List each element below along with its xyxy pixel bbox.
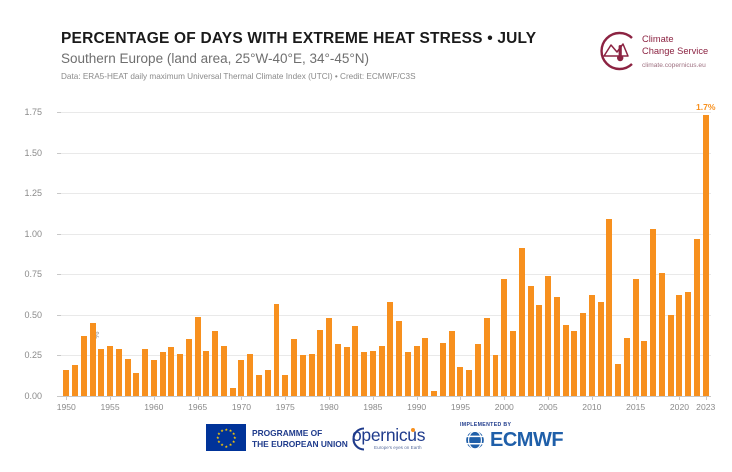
bar-1991 [422,338,428,396]
x-tick-mark [285,396,286,400]
bar-1973 [265,370,271,396]
eu-flag-star-icon: ★ [225,445,228,448]
bar-2004 [536,305,542,396]
bar-1978 [309,354,315,396]
climate-change-service-mark [592,30,638,72]
bar-2009 [580,313,586,396]
x-tick-label: 1960 [144,402,163,412]
bar-1965 [195,317,201,396]
y-tick-mark [57,355,61,356]
copernicus-tagline: Europe's eyes on Earth [374,445,422,450]
gridline [61,234,711,235]
ecmwf-wordmark: ECMWF [490,429,563,452]
bar-1968 [221,346,227,396]
gridline [61,315,711,316]
gridline [61,274,711,275]
logo-url: climate.copernicus.eu [642,62,708,69]
logo-line-1: Climate [642,34,708,46]
european-union-flag: ★★★★★★★★★★★★ [206,424,246,451]
x-tick-label: 1985 [363,402,382,412]
bar-2005 [545,276,551,396]
x-tick-mark [636,396,637,400]
y-tick-mark [57,153,61,154]
x-tick-mark [373,396,374,400]
y-tick-label: 1.75 [24,107,42,117]
x-tick-label: 2020 [670,402,689,412]
x-tick-label: 2010 [582,402,601,412]
x-tick-label: 1950 [57,402,76,412]
bar-1995 [457,367,463,396]
x-tick-mark [706,396,707,400]
bar-1998 [484,318,490,396]
data-source-note: Data: ERA5-HEAT daily maximum Universal … [61,72,416,81]
implemented-by-label: IMPLEMENTED BY [460,422,511,428]
ecmwf-globe-icon [460,430,490,452]
bar-1972 [256,375,262,396]
y-tick-label: 0.75 [24,269,42,279]
x-tick-label: 1990 [407,402,426,412]
eu-programme-text: PROGRAMME OF THE EUROPEAN UNION [252,428,348,449]
logo-text: Climate Change Service climate.copernicu… [642,34,708,69]
bar-1954 [98,349,104,396]
bar-1977 [300,355,306,396]
bar-chart-plot-area: 0.000.250.500.751.001.251.501.75 % 19501… [61,96,711,396]
bar-1986 [379,346,385,396]
bar-1969 [230,388,236,396]
bar-1980 [326,318,332,396]
footer-logos: ★★★★★★★★★★★★ PROGRAMME OF THE EUROPEAN U… [0,418,732,464]
y-tick-mark [57,274,61,275]
bar-1982 [344,347,350,396]
x-tick-label: 2005 [538,402,557,412]
x-tick-mark [460,396,461,400]
climate-chart-figure: PERCENTAGE OF DAYS WITH EXTREME HEAT STR… [0,0,732,472]
bar-1962 [168,347,174,396]
bar-2023 [703,115,709,396]
eu-flag-star-icon: ★ [225,428,228,431]
copernicus-climate-change-service-logo: Climate Change Service climate.copernicu… [592,28,722,76]
chart-subtitle: Southern Europe (land area, 25°W-40°E, 3… [61,51,369,66]
bar-2014 [624,338,630,396]
y-tick-label: 0.25 [24,350,42,360]
bar-1990 [414,346,420,396]
bar-1958 [133,373,139,396]
y-tick-label: 1.50 [24,148,42,158]
x-tick-mark [417,396,418,400]
bar-1964 [186,339,192,396]
bar-1970 [238,360,244,396]
bar-2015 [633,279,639,396]
bar-2002 [519,248,525,396]
bar-2006 [554,297,560,396]
x-tick-mark [548,396,549,400]
x-tick-mark [329,396,330,400]
bar-2012 [606,219,612,396]
bar-2001 [510,331,516,396]
bar-1985 [370,351,376,396]
page-title: PERCENTAGE OF DAYS WITH EXTREME HEAT STR… [61,30,536,48]
bar-1955 [107,346,113,396]
y-tick-label: 0.00 [24,391,42,401]
bar-1983 [352,326,358,396]
bar-1976 [291,339,297,396]
logo-line-2: Change Service [642,46,708,58]
eu-flag-star-icon: ★ [220,429,223,432]
x-tick-label: 1965 [188,402,207,412]
x-tick-mark [241,396,242,400]
bar-1957 [125,359,131,396]
bar-1975 [282,375,288,396]
bar-1996 [466,370,472,396]
bar-1993 [440,343,446,397]
eu-programme-line-1: PROGRAMME OF [252,428,348,439]
copernicus-orange-dot-icon [411,428,415,432]
bar-2003 [528,286,534,396]
gridline [61,153,711,154]
eu-flag-star-icon: ★ [232,440,235,443]
x-tick-label: 1970 [232,402,251,412]
bar-2018 [659,273,665,396]
x-tick-label: 1980 [319,402,338,412]
eu-flag-star-icon: ★ [229,443,232,446]
bar-1971 [247,354,253,396]
y-tick-mark [57,315,61,316]
x-tick-mark [592,396,593,400]
gridline [61,355,711,356]
x-tick-label: 1995 [451,402,470,412]
eu-programme-line-2: THE EUROPEAN UNION [252,439,348,450]
bar-1950 [63,370,69,396]
x-tick-mark [504,396,505,400]
bar-1951 [72,365,78,396]
y-tick-mark [57,234,61,235]
bar-1979 [317,330,323,396]
bar-2011 [598,302,604,396]
x-tick-mark [154,396,155,400]
bar-1974 [274,304,280,396]
bar-1961 [160,352,166,396]
bar-1953 [90,323,96,396]
bar-1987 [387,302,393,396]
x-axis-line [61,396,711,397]
bar-2017 [650,229,656,396]
bar-1999 [493,355,499,396]
x-tick-mark [110,396,111,400]
x-tick-label: 2000 [495,402,514,412]
bar-1966 [203,351,209,396]
bar-2020 [676,295,682,396]
bar-1984 [361,352,367,396]
x-tick-mark [198,396,199,400]
bar-1956 [116,349,122,396]
gridline [61,112,711,113]
bar-2021 [685,292,691,396]
copernicus-logo: opernicus Europe's eyes on Earth [338,424,446,454]
x-tick-label: 2023 [696,402,715,412]
ecmwf-logo: ECMWF [460,429,570,453]
bar-2010 [589,295,595,396]
bar-1967 [212,331,218,396]
x-tick-label: 1975 [276,402,295,412]
y-tick-label: 1.00 [24,229,42,239]
bar-1959 [142,349,148,396]
x-tick-mark [66,396,67,400]
eu-flag-star-icon: ★ [216,436,219,439]
bar-2013 [615,364,621,396]
bar-1989 [405,352,411,396]
x-tick-label: 2015 [626,402,645,412]
bar-2007 [563,325,569,396]
bar-1997 [475,344,481,396]
bar-2008 [571,331,577,396]
x-tick-label: 1955 [100,402,119,412]
bar-2019 [668,315,674,396]
bar-2022 [694,239,700,396]
bar-2000 [501,279,507,396]
y-tick-label: 1.25 [24,188,42,198]
bar-1988 [396,321,402,396]
y-tick-mark [57,193,61,194]
bar-1952 [81,336,87,396]
gridline [61,193,711,194]
peak-value-label: 1.7% [696,102,716,112]
bar-2016 [641,341,647,396]
eu-flag-star-icon: ★ [217,440,220,443]
y-tick-mark [57,112,61,113]
x-tick-mark [679,396,680,400]
bar-1963 [177,354,183,396]
y-tick-label: 0.50 [24,310,42,320]
bar-1994 [449,331,455,396]
bar-1960 [151,360,157,396]
bar-1981 [335,344,341,396]
